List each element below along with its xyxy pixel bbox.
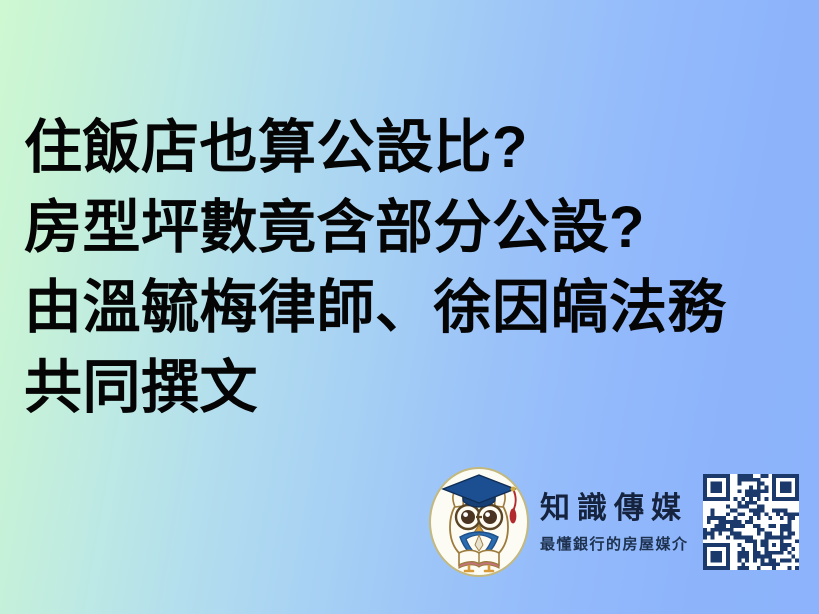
owl-graduate-icon [424,462,536,582]
headline-block: 住飯店也算公設比? 房型坪數竟含部分公設? 由溫毓梅律師、徐因皜法務 共同撰文 [24,108,784,428]
headline-line-4: 共同撰文 [24,348,784,428]
brand-footer: 知識傳媒 最懂銀行的房屋媒介 [424,462,814,582]
headline-line-2: 房型坪數竟含部分公設? [24,188,784,268]
headline-line-1: 住飯店也算公設比? [24,108,784,188]
qr-code-icon[interactable] [703,474,799,570]
headline-line-3: 由溫毓梅律師、徐因皜法務 [24,268,784,348]
qr-code-canvas[interactable] [703,474,799,570]
brand-name: 知識傳媒 [540,492,689,527]
promo-banner: 住飯店也算公設比? 房型坪數竟含部分公設? 由溫毓梅律師、徐因皜法務 共同撰文 [0,0,819,614]
brand-lockup: 知識傳媒 最懂銀行的房屋媒介 [536,490,689,555]
owl-illustration [429,467,529,577]
brand-tagline: 最懂銀行的房屋媒介 [540,535,689,555]
